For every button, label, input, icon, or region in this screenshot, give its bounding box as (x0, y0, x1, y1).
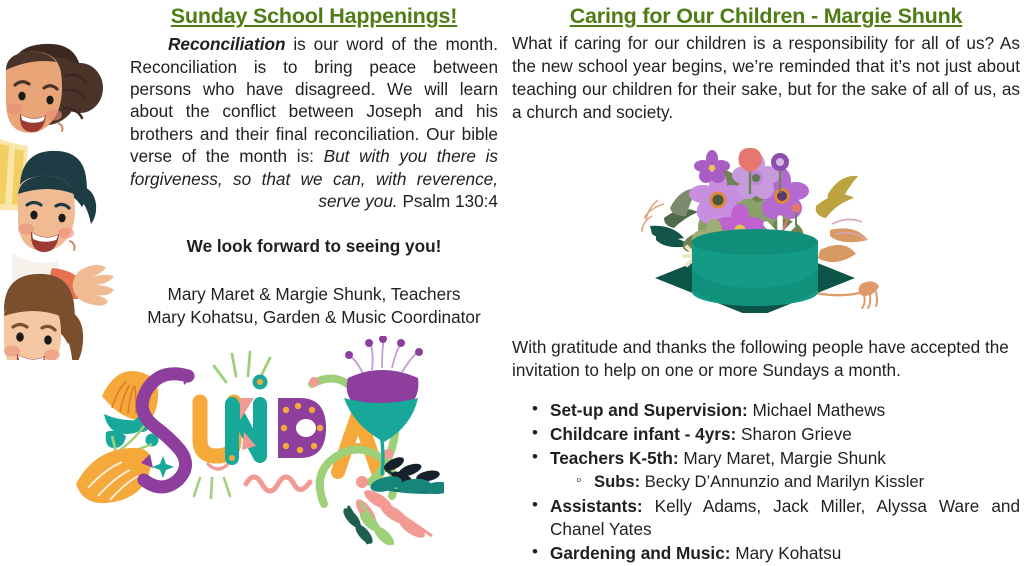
sunday-lettering-illustration (72, 336, 444, 545)
left-column: Sunday School Happenings! Reconciliation… (130, 4, 498, 346)
volunteer-role: Gardening and Music: (550, 543, 731, 563)
left-signature: Mary Maret & Margie Shunk, Teachers Mary… (130, 283, 498, 328)
list-item: Gardening and Music: Mary Kohatsu (530, 542, 1020, 565)
list-item: Assistants: Kelly Adams, Jack Miller, Al… (530, 495, 1020, 541)
left-body-paragraph: Reconciliation is our word of the month.… (130, 33, 498, 212)
right-gratitude-paragraph: With gratitude and thanks the following … (512, 336, 1020, 382)
page-title-sunday-school: Sunday School Happenings! (130, 4, 498, 29)
left-call-to-action: We look forward to seeing you! (130, 236, 498, 257)
volunteer-role: Subs: (594, 472, 640, 491)
volunteer-list: Set-up and Supervision: Michael Mathews … (512, 399, 1020, 565)
newsletter-page: Sunday School Happenings! Reconciliation… (0, 0, 1024, 545)
list-item: Childcare infant - 4yrs: Sharon Grieve (530, 423, 1020, 446)
substitutes-list: Subs: Becky D’Annunzio and Marilyn Kissl… (550, 471, 1020, 493)
list-item: Teachers K-5th: Mary Maret, Margie Shunk… (530, 447, 1020, 493)
volunteer-role: Assistants: (550, 496, 643, 516)
volunteer-role: Teachers K-5th: (550, 448, 679, 468)
list-item: Subs: Becky D’Annunzio and Marilyn Kissl… (576, 471, 1020, 493)
signature-line-1: Mary Maret & Margie Shunk, Teachers (168, 284, 461, 304)
flower-bouquet-illustration (620, 138, 890, 313)
word-of-the-month: Reconciliation (168, 34, 285, 54)
page-title-caring-for-children: Caring for Our Children - Margie Shunk (512, 4, 1020, 29)
volunteer-names: Michael Mathews (748, 400, 886, 420)
signature-line-2: Mary Kohatsu, Garden & Music Coordinator (147, 307, 480, 327)
bible-verse-reference: Psalm 130:4 (398, 191, 498, 211)
volunteer-names: Mary Kohatsu (731, 543, 842, 563)
volunteer-names: Sharon Grieve (736, 424, 852, 444)
volunteer-role: Set-up and Supervision: (550, 400, 748, 420)
list-item: Set-up and Supervision: Michael Mathews (530, 399, 1020, 422)
children-illustration (0, 10, 148, 360)
right-intro-paragraph: What if caring for our children is a res… (512, 32, 1020, 124)
volunteer-names: Becky D’Annunzio and Marilyn Kissler (640, 472, 924, 491)
volunteer-role: Childcare infant - 4yrs: (550, 424, 736, 444)
volunteer-names: Mary Maret, Margie Shunk (679, 448, 886, 468)
